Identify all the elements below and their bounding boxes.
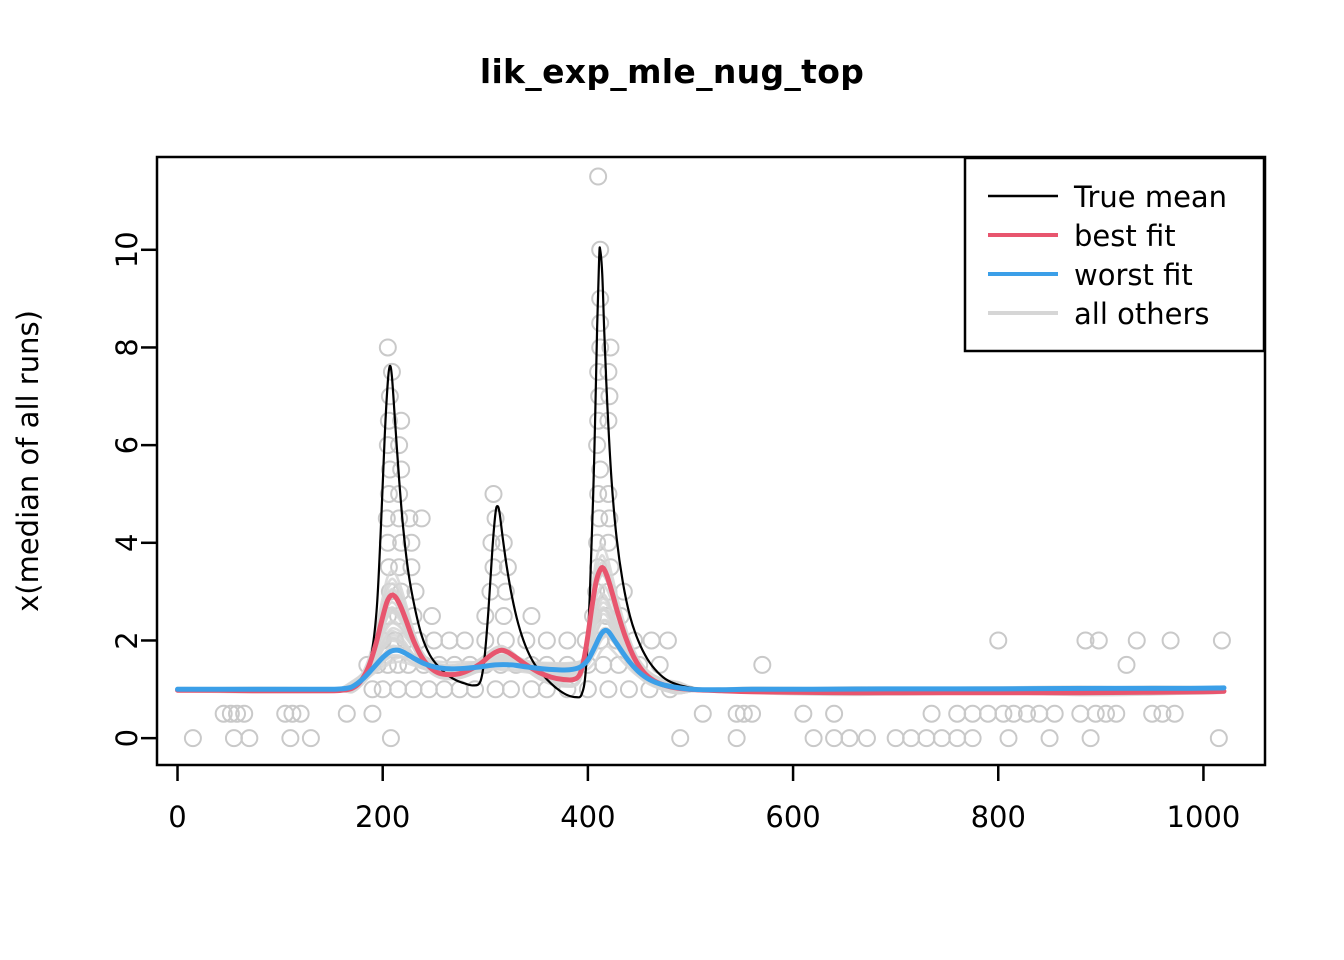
chart-figure: lik_exp_mle_nug_top 02004006008001000 02… <box>0 0 1344 960</box>
x-tick-label: 800 <box>971 800 1026 834</box>
y-tick-label: 8 <box>110 338 144 356</box>
y-tick-label: 6 <box>110 436 144 454</box>
legend-label-1: best fit <box>1074 219 1176 253</box>
plot-area: 02004006008001000 0246810 x(median of al… <box>0 0 1344 960</box>
legend-label-0: True mean <box>1073 180 1227 214</box>
x-tick-label: 400 <box>560 800 615 834</box>
x-tick-label: 200 <box>355 800 410 834</box>
x-tick-label: 0 <box>168 800 186 834</box>
legend-label-2: worst fit <box>1074 258 1193 292</box>
legend-label-3: all others <box>1074 297 1209 331</box>
y-tick-label: 2 <box>110 631 144 649</box>
chart-legend: True meanbest fitworst fitall others <box>965 158 1264 351</box>
y-axis: 0246810 <box>110 231 157 747</box>
y-tick-label: 4 <box>110 534 144 552</box>
x-tick-label: 600 <box>765 800 820 834</box>
x-axis: 02004006008001000 <box>168 765 1240 834</box>
y-tick-label: 10 <box>110 231 144 268</box>
x-tick-label: 1000 <box>1167 800 1241 834</box>
y-tick-label: 0 <box>110 729 144 747</box>
y-axis-title: x(median of all runs) <box>11 310 45 612</box>
